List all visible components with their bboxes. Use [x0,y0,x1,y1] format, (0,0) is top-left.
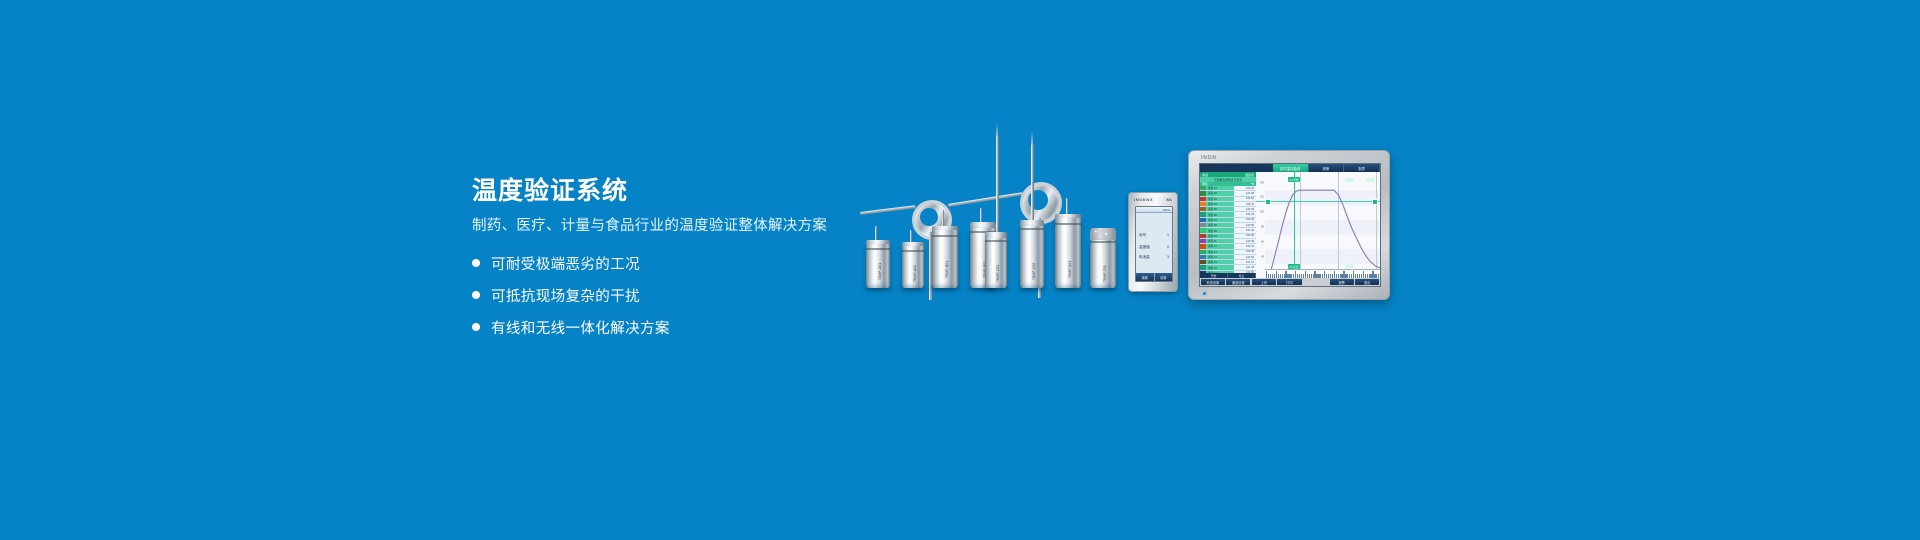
hero-banner: 温度验证系统 制药、医疗、计量与食品行业的温度验证整体解决方案 可耐受极端恶劣的… [0,0,1920,540]
toolbar-spacer [1302,278,1329,286]
channel-value-cell: 121.44 [1234,212,1256,216]
reader-row-label: 温度值 [1139,245,1150,250]
channel-name-cell: 通道 13 [1206,250,1234,254]
reader-row-value: 3 [1167,255,1169,260]
logger-label: TEMP-C02 [1032,263,1036,280]
reader-screen: 100% 序号 1 温度值 2 电池量 3 读取 设置 [1135,206,1173,282]
channel-name-cell: 通道 03 [1206,197,1234,201]
logger-small-1: TEMP-A01 [866,226,890,288]
y-tick: 60 [1261,240,1264,243]
channel-value-cell: 121.37 [1234,260,1256,264]
reader-row-label: 电池量 [1139,255,1150,260]
y-tick: 40 [1261,255,1264,258]
logger-filter: TEMP-F01 [1090,228,1116,288]
handheld-reader[interactable]: INOKNX M1 100% 序号 1 温度值 2 电池量 3 [1128,192,1178,292]
reader-read-button[interactable]: 读取 [1136,273,1155,281]
channel-name-cell: 通道 12 [1206,244,1234,248]
tab-report[interactable]: 报表 [1344,164,1380,172]
channel-value-cell: 121.38 [1234,191,1256,195]
channel-value-cell: 121.49 [1234,239,1256,243]
needle-probe-2-tip [1031,131,1033,145]
y-tick: 100 [1260,211,1264,214]
logger-mid-1: TEMP-B01 [932,210,958,288]
channel-value-cell: 121.46 [1234,250,1256,254]
channel-header-right: 温度值 [1245,173,1254,177]
reader-setup-button[interactable]: 设置 [1155,273,1173,281]
logger-label: TEMP-F01 [1103,265,1107,282]
channel-table-panel: 通道 温度值 灭菌柜温度验证记录表 通道 ℃ 通道 01121.42通道 021… [1200,172,1257,278]
screen-tab-bar: 实时监控曲线 报警 报表 [1200,164,1380,172]
channel-value-cell: 121.33 [1234,207,1256,211]
channel-name-cell: 通道 02 [1206,191,1234,195]
reader-row-value: 1 [1167,233,1169,238]
reader-data-row: 电池量 3 [1139,255,1169,260]
y-tick: 140 [1260,181,1264,184]
bullet-dot-icon [472,291,480,299]
print-button[interactable]: 打印 [1277,279,1301,285]
logger-label: TEMP-A02 [913,265,917,282]
logger-label: TEMP-B01 [945,261,949,278]
chart-x-axis [1265,269,1380,278]
temperature-chart: 140 120 100 80 60 40 [1256,172,1380,278]
monitor-display: INON 实时监控曲线 报警 报表 通道 温度值 灭菌柜温度验证记录表 [1188,150,1390,300]
channel-name-cell: 通道 16 [1206,265,1234,269]
channel-name-cell: 通道 06 [1206,212,1234,216]
channel-value-cell: 121.31 [1234,244,1256,248]
channel-value-cell: 121.55 [1234,223,1256,227]
alarm-button[interactable]: 报警 [1330,279,1354,285]
feature-label: 可耐受极端恶劣的工况 [491,253,640,274]
screen-toolbar: 系统设置 通道设置 上传 打印 报警 退出 [1200,278,1380,286]
channel-name-cell: 通道 15 [1206,260,1234,264]
chart-y-axis: 140 120 100 80 60 40 [1256,172,1265,278]
y-tick: 120 [1260,196,1264,199]
logger-label: TEMP-A01 [878,263,882,280]
channel-value-cell: 121.29 [1234,218,1256,222]
channel-value-cell: 121.43 [1234,265,1256,269]
channel-name-cell: 通道 10 [1206,234,1234,238]
logger-probe-2: TEMP-C02 [1020,220,1044,288]
reader-model-label: M1 [1166,197,1172,202]
chart-curve [1265,172,1380,278]
system-settings-button[interactable]: 系统设置 [1201,279,1225,285]
reader-data-row: 序号 1 [1139,233,1169,238]
y-tick: 80 [1261,226,1264,229]
reader-battery-label: 100% [1162,208,1170,212]
power-led-icon [1203,292,1206,295]
channel-name-cell: 通道 14 [1206,255,1234,259]
monitor-screen: 实时监控曲线 报警 报表 通道 温度值 灭菌柜温度验证记录表 通道 ℃ 通道 0 [1199,163,1381,287]
channel-value-cell: 121.47 [1234,202,1256,206]
channel-value-cell: 121.42 [1234,186,1256,190]
monitor-brand-label: INON [1201,155,1217,161]
tab-alarm[interactable]: 报警 [1309,164,1345,172]
channel-value-cell: 121.51 [1234,197,1256,201]
channel-name-cell: 通道 11 [1206,239,1234,243]
channel-header-left: 通道 [1202,173,1208,177]
channel-name-cell: 通道 04 [1206,202,1234,206]
tab-realtime-curve[interactable]: 实时监控曲线 [1273,164,1309,172]
exit-button[interactable]: 退出 [1355,279,1379,285]
upload-button[interactable]: 上传 [1252,279,1276,285]
channel-row-container: 通道 01121.42通道 02121.38通道 03121.51通道 0412… [1200,186,1256,276]
channel-value-cell: 121.40 [1234,228,1256,232]
channel-value-cell: 121.52 [1234,255,1256,259]
channel-name-cell: 通道 05 [1206,207,1234,211]
feature-label: 可抵抗现场复杂的干扰 [491,285,640,306]
reader-keypad: 读取 设置 [1136,273,1172,281]
logger-label: TEMP-D01 [1068,261,1072,278]
channel-name-cell: 通道 08 [1206,223,1234,227]
bullet-dot-icon [472,259,480,267]
logger-label: TEMP-C01 [996,265,1000,282]
reader-brand-label: INOKNX [1134,197,1153,202]
needle-probe-1-tip [996,123,998,137]
logger-tall: TEMP-D01 [1055,198,1081,288]
bullet-dot-icon [472,323,480,331]
logger-small-2: TEMP-A02 [902,230,924,288]
logger-probe-1: TEMP-C01 [985,232,1007,288]
reader-row-label: 序号 [1139,233,1146,238]
reader-status-bar: 100% [1136,207,1172,213]
channel-value-cell: 121.36 [1234,234,1256,238]
reader-row-value: 2 [1167,245,1169,250]
x-tick-container [1265,270,1380,278]
channel-name-cell: 通道 09 [1206,228,1234,232]
channel-name-cell: 通道 01 [1206,186,1234,190]
feature-label: 有线和无线一体化解决方案 [491,317,670,338]
channel-settings-button[interactable]: 通道设置 [1226,279,1250,285]
reader-data-row: 温度值 2 [1139,245,1169,250]
product-photo-group: TEMP-A01 TEMP-A02 TEMP-B01 TE [870,120,1390,420]
channel-name-cell: 通道 07 [1206,218,1234,222]
